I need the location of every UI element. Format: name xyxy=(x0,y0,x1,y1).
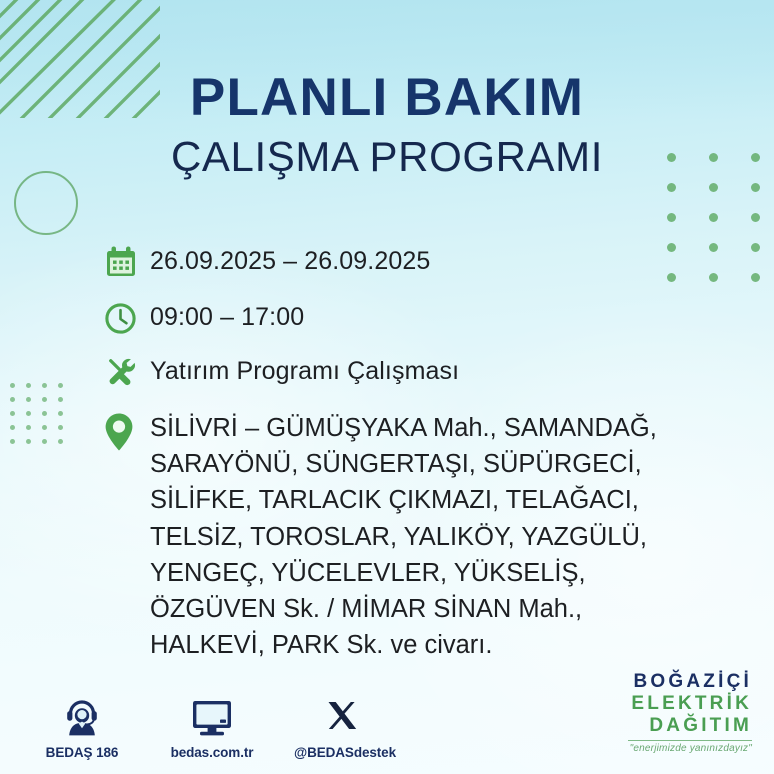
poster-heading: PLANLI BAKIM ÇALIŞMA PROGRAMI xyxy=(0,70,774,180)
info-row-time: 09:00 – 17:00 xyxy=(104,296,714,340)
clock-icon xyxy=(104,296,150,340)
info-row-type: Yatırım Programı Çalışması xyxy=(104,350,714,394)
headset-support-icon xyxy=(34,694,130,738)
tools-icon xyxy=(104,350,150,394)
info-list: 26.09.2025 – 26.09.2025 09:00 – 17:00 xyxy=(104,240,714,663)
contact-website[interactable]: bedas.com.tr xyxy=(164,694,260,760)
brand-line-elektrik: ELEKTRİK xyxy=(628,694,752,713)
bedas-logo: BOĞAZİÇİ ELEKTRİK DAĞITIM "enerjimizde y… xyxy=(628,672,752,754)
location-line: TELSİZ, TOROSLAR, YALIKÖY, YAZGÜLÜ, xyxy=(150,523,647,551)
circle-outline-decoration xyxy=(14,171,78,235)
info-row-date: 26.09.2025 – 26.09.2025 xyxy=(104,240,714,284)
poster-footer: BEDAŞ 186 bedas.com.tr xyxy=(0,682,774,760)
location-line: SİLİFKE, TARLACIK ÇIKMAZI, TELAĞACI, xyxy=(150,486,639,514)
location-line: SARAYÖNÜ, SÜNGERTAŞI, SÜPÜRGECİ, xyxy=(150,450,642,478)
dot-grid-left-decoration xyxy=(10,383,72,451)
contact-phone[interactable]: BEDAŞ 186 xyxy=(34,694,130,760)
map-pin-icon xyxy=(104,410,150,452)
contact-website-label: bedas.com.tr xyxy=(164,745,260,760)
maintenance-announcement-poster: PLANLI BAKIM ÇALIŞMA PROGRAMI xyxy=(0,0,774,774)
contact-phone-label: BEDAŞ 186 xyxy=(34,745,130,760)
brand-divider xyxy=(628,740,752,741)
brand-line-bogazici: BOĞAZİÇİ xyxy=(628,672,752,691)
calendar-icon xyxy=(104,240,150,284)
location-line: SİLİVRİ – GÜMÜŞYAKA Mah., SAMANDAĞ, xyxy=(150,414,657,442)
brand-tagline: "enerjimizde yanınızdayız" xyxy=(628,744,752,754)
location-line: ÖZGÜVEN Sk. / MİMAR SİNAN Mah., xyxy=(150,595,582,623)
monitor-website-icon xyxy=(164,694,260,738)
location-line: HALKEVİ, PARK Sk. ve civarı. xyxy=(150,631,492,659)
info-row-location: SİLİVRİ – GÜMÜŞYAKA Mah., SAMANDAĞ, SARA… xyxy=(104,410,714,663)
contact-social[interactable]: @BEDASdestek xyxy=(294,694,390,760)
contact-channels: BEDAŞ 186 bedas.com.tr xyxy=(34,694,390,760)
page-title: PLANLI BAKIM xyxy=(0,70,774,126)
x-social-icon xyxy=(294,694,390,738)
affected-locations: SİLİVRİ – GÜMÜŞYAKA Mah., SAMANDAĞ, SARA… xyxy=(150,410,657,663)
contact-social-label: @BEDASdestek xyxy=(294,745,390,760)
maintenance-date-range: 26.09.2025 – 26.09.2025 xyxy=(150,240,430,277)
maintenance-type: Yatırım Programı Çalışması xyxy=(150,350,459,387)
page-subtitle: ÇALIŞMA PROGRAMI xyxy=(0,134,774,180)
location-line: YENGEÇ, YÜCELEVLER, YÜKSELİŞ, xyxy=(150,559,586,587)
brand-line-dagitim: DAĞITIM xyxy=(628,716,752,735)
maintenance-time-range: 09:00 – 17:00 xyxy=(150,296,304,333)
